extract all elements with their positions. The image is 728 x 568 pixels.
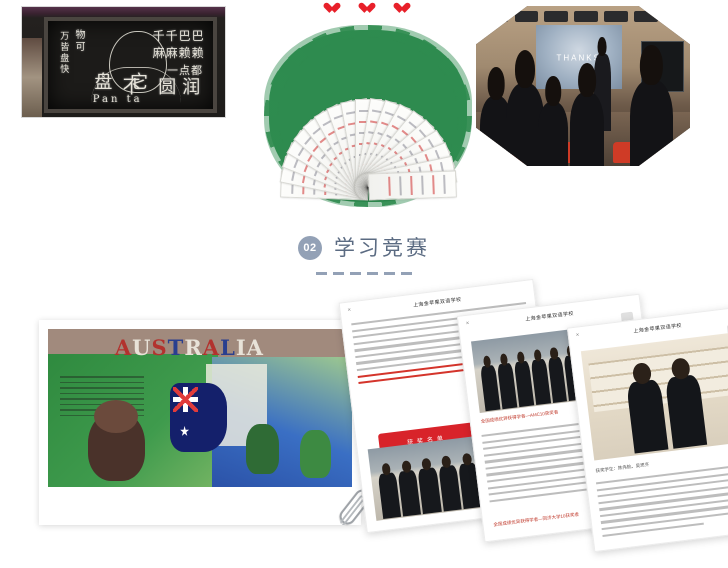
koala-drawing [88,411,146,481]
section-number-badge: 02 [298,236,322,260]
close-icon[interactable]: × [347,307,351,313]
document-stack: × 上海金苹果双语学校 获奖名单 × 上海金苹果双语学校 全国成绩优 [352,276,728,544]
dash-segment [333,272,344,275]
dash-segment [316,272,327,275]
worksheet-fan-photo[interactable] [255,22,480,210]
audience-head [578,63,596,97]
section-header: 02 学习竞赛 [0,236,728,260]
audience-head [545,76,561,105]
close-icon[interactable]: × [465,321,469,327]
students-pair [626,375,707,454]
dash-segment [367,272,378,275]
audience-head [515,50,535,88]
document-photo [581,332,728,460]
chalkboard-side-wall [22,38,42,117]
presentation-hall-photo[interactable]: THANKS [476,6,690,166]
chalkboard-photo[interactable]: 万皆盘快 物可 千千巴巴 麻麻赖赖 一点都 盘 它 Pan ta 不 圆润 [21,6,226,118]
worksheet-card [368,171,457,201]
audience-head [640,45,662,85]
section-title: 学习竞赛 [334,238,430,259]
document-page[interactable]: × 上海金苹果双语学校 获奖学生：陈伟航、吴思齐 [567,306,728,552]
heart-icon [323,3,335,14]
page-root: 万皆盘快 物可 千千巴巴 麻麻赖赖 一点都 盘 它 Pan ta 不 圆润 TH… [0,0,728,568]
chalk-text-right-1: 千千巴巴 [153,30,205,42]
audience-head [488,67,505,99]
audience-figure [570,92,604,166]
chalk-text-right-2: 麻麻赖赖 [153,47,205,59]
audience-figure [538,102,568,166]
chalk-text-left-b: 物可 [73,29,83,53]
chalk-text-left-a: 万皆盘快 [58,31,67,75]
australia-poster-card[interactable]: AUSTRALIA [39,320,361,525]
audience-figure [630,80,673,166]
chalk-text-right-3: 一点都 [167,65,203,76]
heart-icon [393,3,405,14]
crocodile-drawing [246,424,279,475]
australian-flag-drawing [170,383,228,453]
poster-title: AUSTRALIA [115,335,264,360]
close-icon[interactable]: × [576,332,580,338]
chalkboard-frame: 万皆盘快 物可 千千巴巴 麻麻赖赖 一点都 盘 它 Pan ta 不 圆润 [44,17,217,113]
crocodile-drawing [300,430,330,477]
dash-segment [384,272,395,275]
star-icon [180,426,189,437]
presenter-head [598,37,607,55]
chalk-text-right-big: 不 圆润 [123,79,207,97]
dash-segment [401,272,412,275]
heart-icon [358,3,370,14]
dash-segment [350,272,361,275]
australia-poster-image: AUSTRALIA [48,329,352,487]
